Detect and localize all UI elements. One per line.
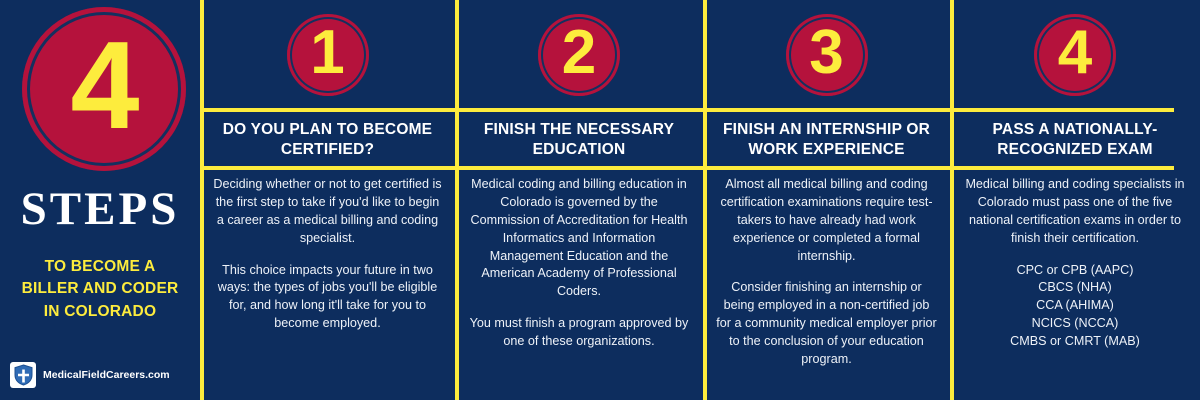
step-badge-1: 1	[287, 14, 369, 96]
step-body-3: Almost all medical billing and coding ce…	[715, 176, 938, 369]
exam-list: CPC or CPB (AAPC) CBCS (NHA) CCA (AHIMA)…	[962, 262, 1188, 351]
step-badge-area-2: 2	[455, 0, 703, 110]
step-badge-3: 3	[786, 14, 868, 96]
hero-panel: 4 STEPS TO BECOME A BILLER AND CODER IN …	[0, 0, 200, 400]
step-title-rule-top-4	[954, 108, 1174, 112]
step-column-1: 1 DO YOU PLAN TO BECOME CERTIFIED? Decid…	[200, 0, 455, 400]
exam-list-item: NCICS (NCCA)	[962, 315, 1188, 333]
step-badge-area-3: 3	[703, 0, 950, 110]
step-column-2: 2 FINISH THE NECESSARY EDUCATION Medical…	[455, 0, 703, 400]
step-title-rule-bottom-4	[954, 166, 1174, 170]
step-column-4: 4 PASS A NATIONALLY-RECOGNIZED EXAM Medi…	[950, 0, 1200, 400]
exam-list-item: CBCS (NHA)	[962, 279, 1188, 297]
hero-badge: 4	[22, 7, 186, 171]
step-badge-4: 4	[1034, 14, 1116, 96]
exam-list-item: CMBS or CMRT (MAB)	[962, 333, 1188, 351]
step-paragraph: Consider finishing an internship or bein…	[715, 279, 938, 368]
hero-footer: MedicalFieldCareers.com	[10, 362, 170, 388]
step-body-4: Medical billing and coding specialists i…	[962, 176, 1188, 351]
step-paragraph: This choice impacts your future in two w…	[212, 262, 443, 334]
step-title-rule-bottom-2	[459, 166, 703, 170]
hero-subtitle-line-2: BILLER AND CODER	[6, 278, 194, 300]
step-title-rule-top-3	[707, 108, 950, 112]
step-badge-2: 2	[538, 14, 620, 96]
exam-list-item: CCA (AHIMA)	[962, 297, 1188, 315]
step-badge-number-4: 4	[1058, 22, 1092, 84]
step-paragraph: Medical coding and billing education in …	[467, 176, 691, 301]
shield-cross-icon	[10, 362, 36, 388]
step-body-1: Deciding whether or not to get certified…	[212, 176, 443, 333]
step-body-2: Medical coding and billing education in …	[467, 176, 691, 351]
step-badge-area-1: 1	[200, 0, 455, 110]
step-title-2: FINISH THE NECESSARY EDUCATION	[463, 114, 695, 166]
step-title-rule-top-2	[459, 108, 703, 112]
hero-badge-number: 4	[71, 24, 138, 148]
step-title-4: PASS A NATIONALLY-RECOGNIZED EXAM	[958, 114, 1192, 166]
step-paragraph: You must finish a program approved by on…	[467, 315, 691, 351]
site-name: MedicalFieldCareers.com	[43, 369, 170, 381]
step-paragraph: Almost all medical billing and coding ce…	[715, 176, 938, 265]
step-title-rule-bottom-1	[204, 166, 455, 170]
step-column-3: 3 FINISH AN INTERNSHIP OR WORK EXPERIENC…	[703, 0, 950, 400]
step-badge-number-3: 3	[809, 22, 843, 84]
hero-subtitle-line-1: TO BECOME A	[6, 256, 194, 278]
step-badge-number-1: 1	[310, 22, 344, 84]
step-title-1: DO YOU PLAN TO BECOME CERTIFIED?	[208, 114, 447, 166]
step-title-3: FINISH AN INTERNSHIP OR WORK EXPERIENCE	[711, 114, 942, 166]
infographic-root: 4 STEPS TO BECOME A BILLER AND CODER IN …	[0, 0, 1200, 400]
step-title-rule-top-1	[204, 108, 455, 112]
hero-subtitle-line-3: IN COLORADO	[6, 301, 194, 323]
step-paragraph: Medical billing and coding specialists i…	[962, 176, 1188, 248]
hero-subtitle: TO BECOME A BILLER AND CODER IN COLORADO	[6, 256, 194, 323]
exam-list-item: CPC or CPB (AAPC)	[962, 262, 1188, 280]
hero-steps-word: STEPS	[0, 186, 200, 233]
step-badge-number-2: 2	[562, 22, 596, 84]
step-paragraph: Deciding whether or not to get certified…	[212, 176, 443, 248]
step-title-rule-bottom-3	[707, 166, 950, 170]
step-badge-area-4: 4	[950, 0, 1200, 110]
